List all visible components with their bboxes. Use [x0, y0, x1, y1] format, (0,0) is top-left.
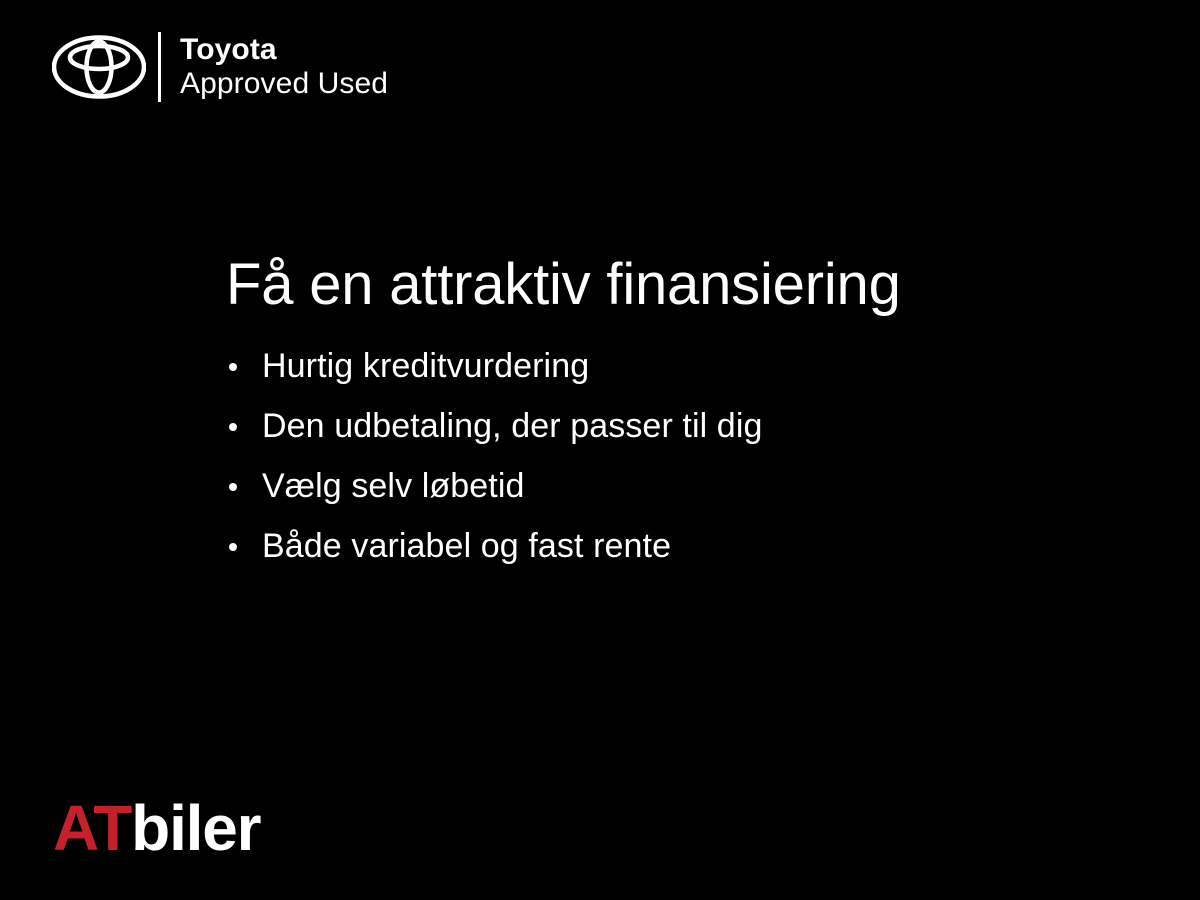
content-block: Få en attraktiv finansiering Hurtig kred…	[226, 252, 1126, 577]
atbiler-logo-biler: biler	[131, 792, 260, 864]
page-title: Få en attraktiv finansiering	[226, 252, 1126, 319]
list-item-label: Vælg selv løbetid	[262, 466, 524, 507]
promotional-slide: Toyota Approved Used Få en attraktiv fin…	[0, 0, 1200, 900]
list-item: Vælg selv løbetid	[226, 457, 1126, 517]
list-item-label: Både variabel og fast rente	[262, 526, 671, 567]
bullet-dot-icon	[229, 543, 237, 551]
brand-name-toyota: Toyota	[180, 33, 388, 67]
brand-wordmark: Toyota Approved Used	[180, 33, 388, 102]
list-item: Den udbetaling, der passer til dig	[226, 397, 1126, 457]
list-item-label: Den udbetaling, der passer til dig	[262, 406, 762, 447]
list-item: Både variabel og fast rente	[226, 517, 1126, 577]
benefit-list: Hurtig kreditvurdering Den udbetaling, d…	[226, 337, 1126, 577]
atbiler-logo: ATbiler	[53, 796, 260, 860]
list-item-label: Hurtig kreditvurdering	[262, 346, 589, 387]
brand-program-approved-used: Approved Used	[180, 66, 388, 101]
bullet-dot-icon	[229, 423, 237, 431]
toyota-approved-used-logo: Toyota Approved Used	[52, 32, 388, 102]
bullet-dot-icon	[229, 483, 237, 491]
bullet-dot-icon	[229, 363, 237, 371]
toyota-emblem-icon	[52, 35, 146, 99]
list-item: Hurtig kreditvurdering	[226, 337, 1126, 397]
brand-divider	[158, 32, 161, 102]
atbiler-logo-at: AT	[53, 792, 131, 864]
